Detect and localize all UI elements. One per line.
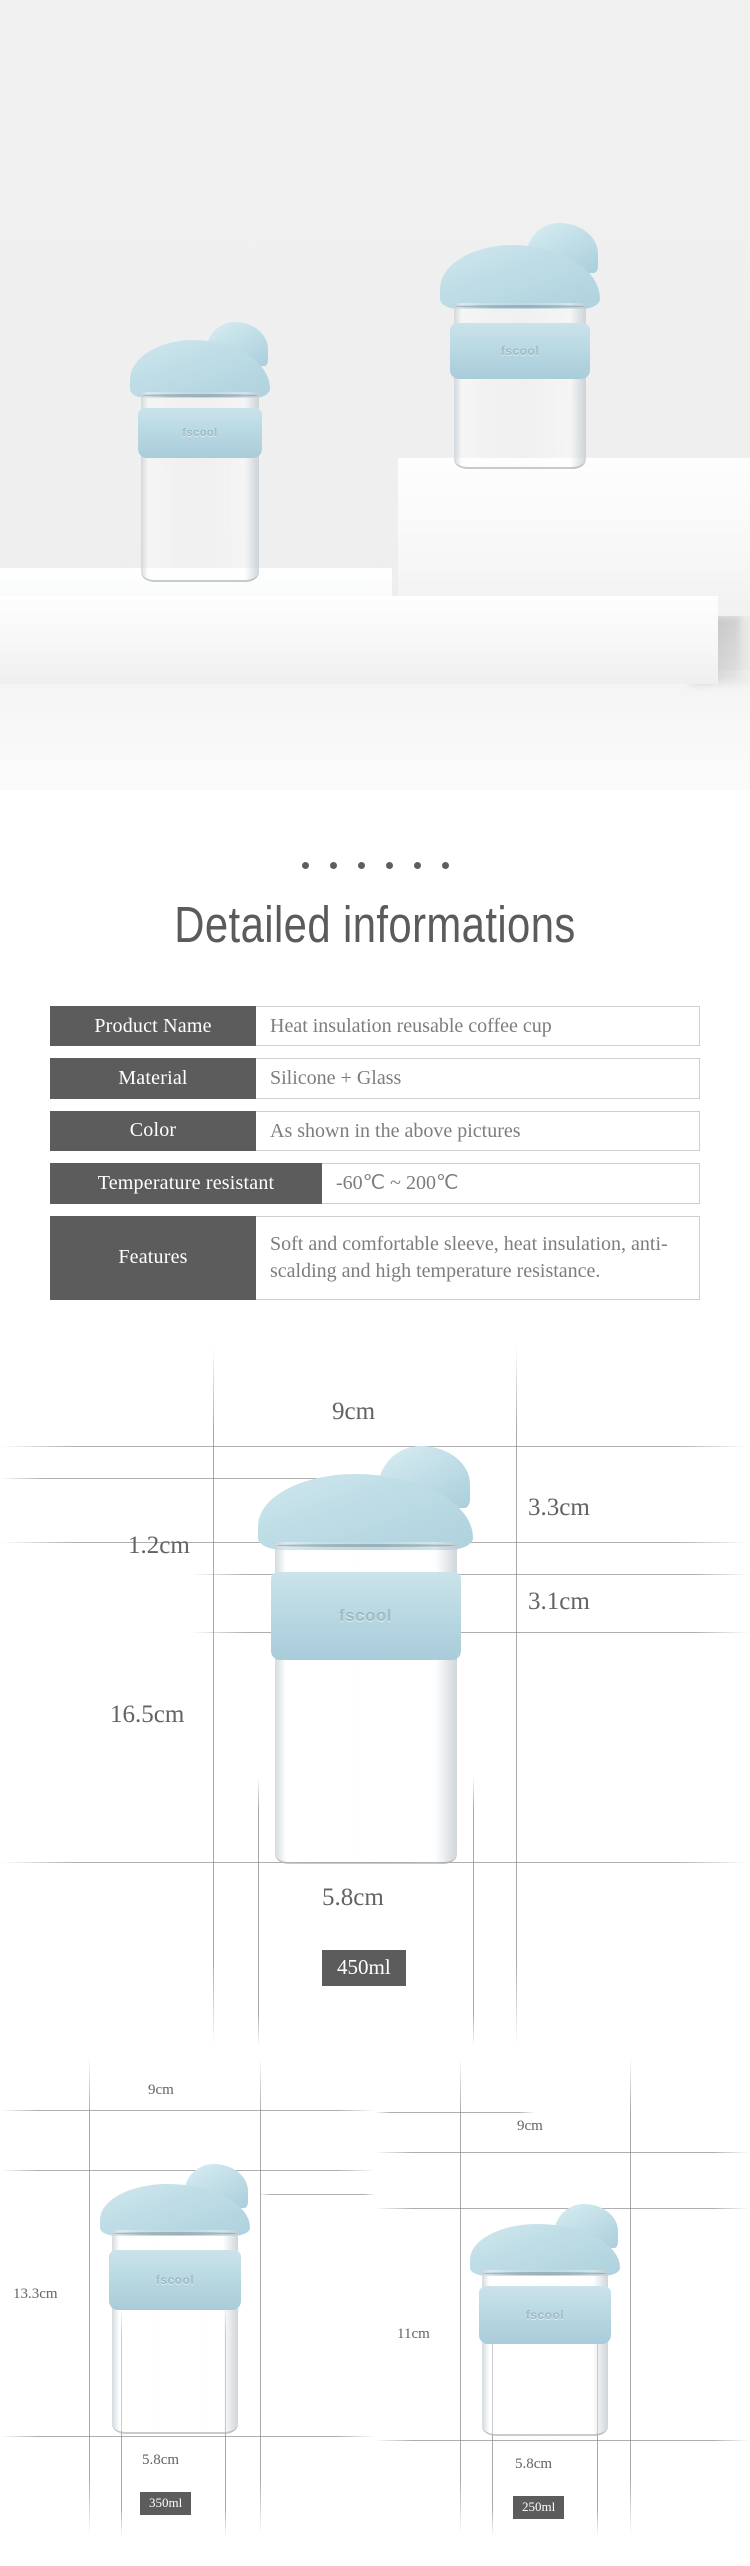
table-row: Features Soft and comfortable sleeve, he…	[50, 1216, 700, 1300]
dim-label-lid-lip: 1.2cm	[128, 1532, 190, 1560]
cup-illustration-450ml: fscool	[258, 1474, 473, 1864]
gridline-vertical	[630, 2056, 631, 2536]
brand-logo: fscool	[339, 1606, 392, 1626]
gridline-horizontal	[375, 2208, 750, 2209]
glass-rim	[142, 394, 258, 397]
divider-dot	[358, 862, 365, 869]
glass-rim	[455, 305, 585, 308]
details-section-header: Detailed informations	[0, 790, 750, 954]
divider-dot	[414, 862, 421, 869]
gridline-vertical	[89, 2056, 90, 2536]
gridline-horizontal	[260, 2194, 375, 2195]
gridline-horizontal	[0, 2436, 375, 2437]
divider-dot	[386, 862, 393, 869]
dim-label-total-height: 11cm	[397, 2326, 430, 2343]
volume-badge-250ml: 250ml	[513, 2496, 564, 2519]
table-row: Temperature resistant -60℃ ~ 200℃	[50, 1163, 700, 1203]
silicone-sleeve: fscool	[479, 2286, 611, 2344]
gridline-vertical	[516, 1346, 517, 2046]
page-title: Detailed informations	[68, 895, 683, 954]
spec-value-color: As shown in the above pictures	[256, 1111, 700, 1151]
gridline-vertical	[460, 2056, 461, 2536]
spec-label-color: Color	[50, 1111, 256, 1151]
dim-label-base-width: 5.8cm	[322, 1884, 384, 1912]
hero-floor	[0, 670, 750, 790]
divider-dot	[302, 862, 309, 869]
hero-cup-right: fscool	[440, 245, 600, 475]
brand-logo: fscool	[526, 2308, 564, 2322]
gridline-horizontal	[375, 2440, 750, 2441]
gridline-vertical	[260, 2056, 261, 2536]
dimension-diagram-450ml: fscool 9cm 3.3cm 1.2cm 3.1cm 16.5cm 5.8c…	[0, 1346, 750, 2046]
dim-label-top-width: 9cm	[148, 2082, 174, 2099]
right-pedestal-block	[398, 468, 750, 616]
gridline-horizontal	[375, 2152, 750, 2153]
silicone-sleeve: fscool	[109, 2250, 241, 2310]
dim-label-total-height: 13.3cm	[13, 2286, 58, 2303]
glass-rim	[483, 2272, 607, 2275]
divider-dot	[442, 862, 449, 869]
hero-product-photo: fscool fscool	[0, 0, 750, 790]
spec-label-features: Features	[50, 1216, 256, 1300]
brand-logo: fscool	[156, 2273, 194, 2287]
brand-logo: fscool	[182, 427, 217, 439]
dim-label-base-width: 5.8cm	[515, 2456, 552, 2473]
glass-rim	[276, 1544, 456, 1547]
gridline-horizontal	[0, 1446, 750, 1447]
front-pedestal-block	[0, 606, 718, 684]
dot-divider	[0, 862, 750, 869]
silicone-sleeve: fscool	[138, 408, 262, 458]
dim-label-sleeve-height: 3.1cm	[528, 1588, 590, 1616]
dimension-diagram-row: fscool 9cm 13.3cm 5.8cm 350ml	[0, 2056, 750, 2536]
gridline-horizontal	[0, 2170, 375, 2171]
spec-label-product-name: Product Name	[50, 1006, 256, 1046]
volume-badge-450ml: 450ml	[322, 1950, 406, 1986]
volume-badge-350ml: 350ml	[140, 2492, 191, 2515]
gridline-vertical	[473, 1776, 474, 2046]
table-row: Product Name Heat insulation reusable co…	[50, 1006, 700, 1046]
table-row: Color As shown in the above pictures	[50, 1111, 700, 1151]
dimension-diagram-350ml: fscool 9cm 13.3cm 5.8cm 350ml	[0, 2056, 375, 2536]
spec-value-product-name: Heat insulation reusable coffee cup	[256, 1006, 700, 1046]
product-detail-page: fscool fscool Detailed informations	[0, 0, 750, 2566]
spec-value-material: Silicone + Glass	[256, 1058, 700, 1098]
dimension-diagram-250ml: fscool 9cm 11cm 5.8cm 250ml	[375, 2056, 750, 2536]
specification-table: Product Name Heat insulation reusable co…	[50, 1006, 700, 1300]
dim-label-top-width: 9cm	[517, 2118, 543, 2135]
spec-label-temperature-resistant: Temperature resistant	[50, 1163, 322, 1203]
silicone-sleeve: fscool	[450, 323, 590, 379]
table-row: Material Silicone + Glass	[50, 1058, 700, 1098]
dim-label-total-height: 16.5cm	[110, 1701, 184, 1729]
dim-label-top-width: 9cm	[332, 1398, 375, 1426]
cup-illustration-250ml: fscool	[470, 2224, 620, 2436]
silicone-sleeve: fscool	[271, 1572, 461, 1660]
gridline-horizontal	[0, 2110, 375, 2111]
spec-value-temperature-resistant: -60℃ ~ 200℃	[322, 1163, 700, 1203]
spec-value-features: Soft and comfortable sleeve, heat insula…	[256, 1216, 700, 1300]
dim-label-base-width: 5.8cm	[142, 2452, 179, 2469]
cup-illustration-350ml: fscool	[100, 2184, 250, 2434]
divider-dot	[330, 862, 337, 869]
glass-rim	[113, 2232, 237, 2235]
dim-label-lid-height: 3.3cm	[528, 1494, 590, 1522]
hero-cup-left: fscool	[130, 340, 270, 585]
brand-logo: fscool	[501, 344, 539, 358]
gridline-vertical	[213, 1346, 214, 2046]
gridline-horizontal	[375, 2112, 535, 2113]
spec-label-material: Material	[50, 1058, 256, 1098]
